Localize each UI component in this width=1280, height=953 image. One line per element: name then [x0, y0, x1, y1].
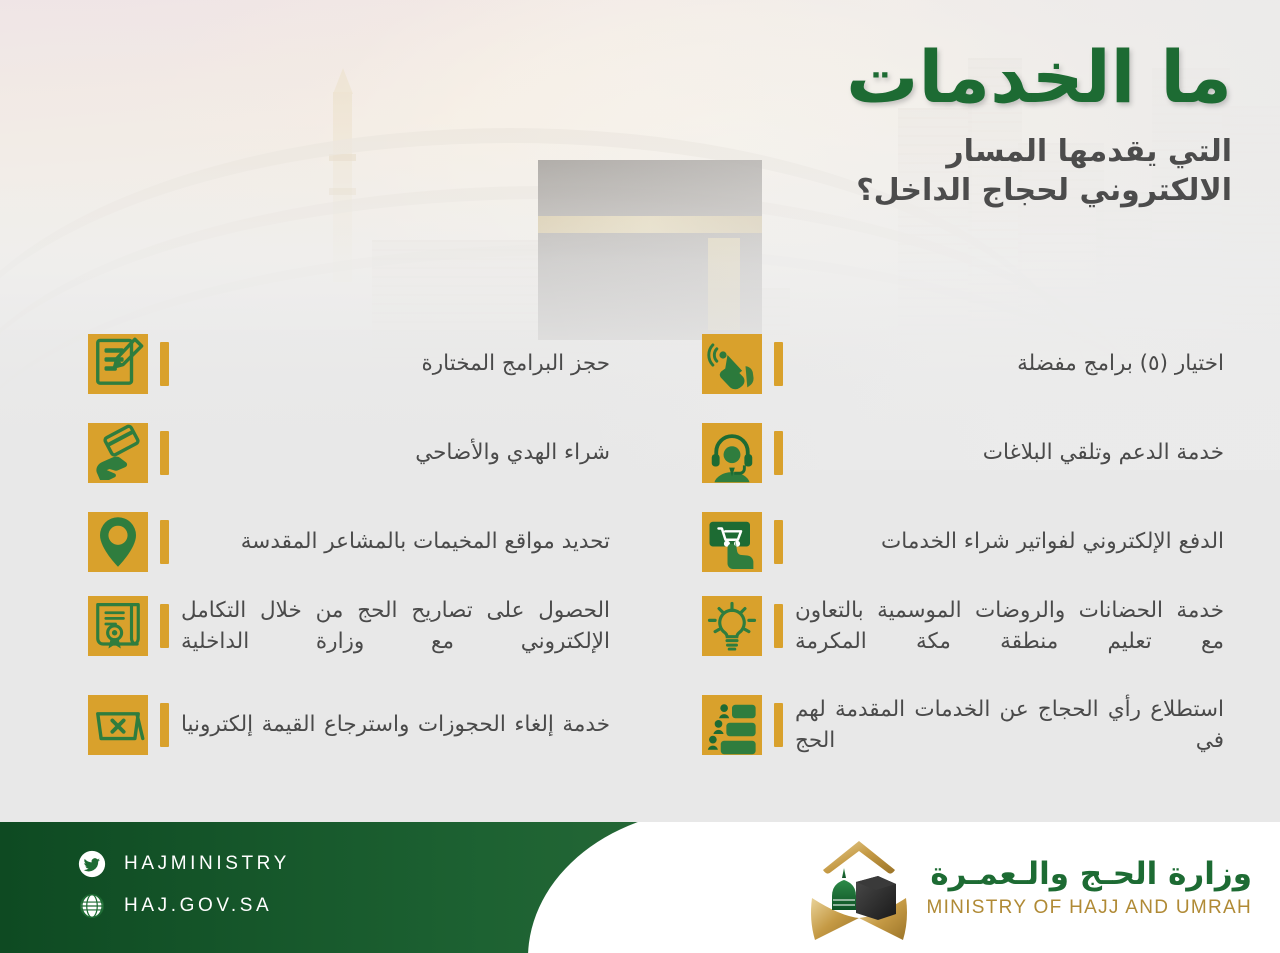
footer: HAJMINISTRY HAJ.GOV.SA [0, 822, 1280, 953]
service-item[interactable]: الدفع الإلكتروني لفواتير شراء الخدمات [702, 497, 1238, 587]
service-label: خدمة الحضانات والروضات الموسمية بالتعاون… [795, 595, 1238, 657]
page-subtitle-line2: الالكتروني لحجاج الداخل؟ [692, 171, 1232, 211]
online-payment-cart-icon [705, 515, 759, 569]
service-accent-bar [774, 342, 783, 386]
social-links: HAJMINISTRY HAJ.GOV.SA [78, 850, 290, 920]
service-icon-box [88, 695, 148, 755]
ministry-emblem-icon [798, 838, 920, 942]
infographic-poster: ما الخدمات التي يقدمها المسار الالكتروني… [0, 0, 1280, 953]
services-grid: اختيار (٥) برامج مفضلة خدمة الدعم وتل [0, 305, 1280, 775]
service-label: تحديد مواقع المخيمات بالمشاعر المقدسة [181, 526, 624, 557]
service-icon-box [702, 334, 762, 394]
ministry-logo-text: وزارة الحـج والـعمـرة MINISTRY OF HAJJ A… [926, 857, 1252, 922]
service-label: شراء الهدي والأضاحي [181, 437, 624, 468]
service-icon-box [88, 334, 148, 394]
ministry-name-arabic: وزارة الحـج والـعمـرة [926, 857, 1252, 891]
service-accent-bar [160, 604, 169, 648]
lightbulb-icon [705, 599, 759, 653]
service-accent-bar [774, 703, 783, 747]
document-pencil-icon [91, 337, 145, 391]
service-accent-bar [160, 703, 169, 747]
globe-icon [78, 892, 106, 920]
service-icon-box [702, 695, 762, 755]
certificate-seal-icon [91, 599, 145, 653]
service-accent-bar [160, 520, 169, 564]
service-label: حجز البرامج المختارة [181, 348, 624, 379]
ministry-logo: وزارة الحـج والـعمـرة MINISTRY OF HAJJ A… [798, 838, 1252, 942]
service-icon-box [88, 596, 148, 656]
service-icon-box [702, 423, 762, 483]
service-label: الحصول على تصاريح الحج من خلال التكامل ا… [181, 595, 624, 657]
service-accent-bar [160, 431, 169, 475]
service-label: استطلاع رأي الحجاج عن الخدمات المقدمة له… [795, 694, 1238, 756]
service-item[interactable]: اختيار (٥) برامج مفضلة [702, 319, 1238, 409]
social-handle-twitter: HAJMINISTRY [124, 853, 290, 875]
hand-tap-icon [705, 337, 759, 391]
social-link-website[interactable]: HAJ.GOV.SA [78, 892, 290, 920]
service-accent-bar [774, 431, 783, 475]
hand-card-icon [91, 426, 145, 480]
service-label: خدمة الدعم وتلقي البلاغات [795, 437, 1238, 468]
service-icon-box [702, 596, 762, 656]
service-icon-box [88, 423, 148, 483]
support-headset-icon [705, 426, 759, 480]
page-title: ما الخدمات [692, 40, 1232, 116]
service-icon-box [88, 512, 148, 572]
survey-poll-icon [705, 698, 759, 752]
service-item[interactable]: الحصول على تصاريح الحج من خلال التكامل ا… [88, 581, 624, 671]
service-icon-box [702, 512, 762, 572]
ministry-name-english: MINISTRY OF HAJJ AND UMRAH [926, 897, 1252, 919]
poster-title-block: ما الخدمات التي يقدمها المسار الالكتروني… [692, 40, 1232, 211]
service-item[interactable]: استطلاع رأي الحجاج عن الخدمات المقدمة له… [702, 680, 1238, 770]
cancel-ticket-icon [91, 698, 145, 752]
page-subtitle-line1: التي يقدمها المسار [692, 132, 1232, 172]
service-accent-bar [774, 520, 783, 564]
service-item[interactable]: خدمة الحضانات والروضات الموسمية بالتعاون… [702, 581, 1238, 671]
service-item[interactable]: حجز البرامج المختارة [88, 319, 624, 409]
service-label: الدفع الإلكتروني لفواتير شراء الخدمات [795, 526, 1238, 557]
service-item[interactable]: شراء الهدي والأضاحي [88, 408, 624, 498]
page-subtitle: التي يقدمها المسار الالكتروني لحجاج الدا… [692, 132, 1232, 212]
service-item[interactable]: خدمة الدعم وتلقي البلاغات [702, 408, 1238, 498]
social-handle-website: HAJ.GOV.SA [124, 895, 272, 917]
twitter-icon [78, 850, 106, 878]
social-link-twitter[interactable]: HAJMINISTRY [78, 850, 290, 878]
service-accent-bar [774, 604, 783, 648]
service-item[interactable]: تحديد مواقع المخيمات بالمشاعر المقدسة [88, 497, 624, 587]
service-label: اختيار (٥) برامج مفضلة [795, 348, 1238, 379]
service-accent-bar [160, 342, 169, 386]
location-pin-icon [91, 515, 145, 569]
service-label: خدمة إلغاء الحجوزات واسترجاع القيمة إلكت… [181, 709, 624, 740]
service-item[interactable]: خدمة إلغاء الحجوزات واسترجاع القيمة إلكت… [88, 680, 624, 770]
